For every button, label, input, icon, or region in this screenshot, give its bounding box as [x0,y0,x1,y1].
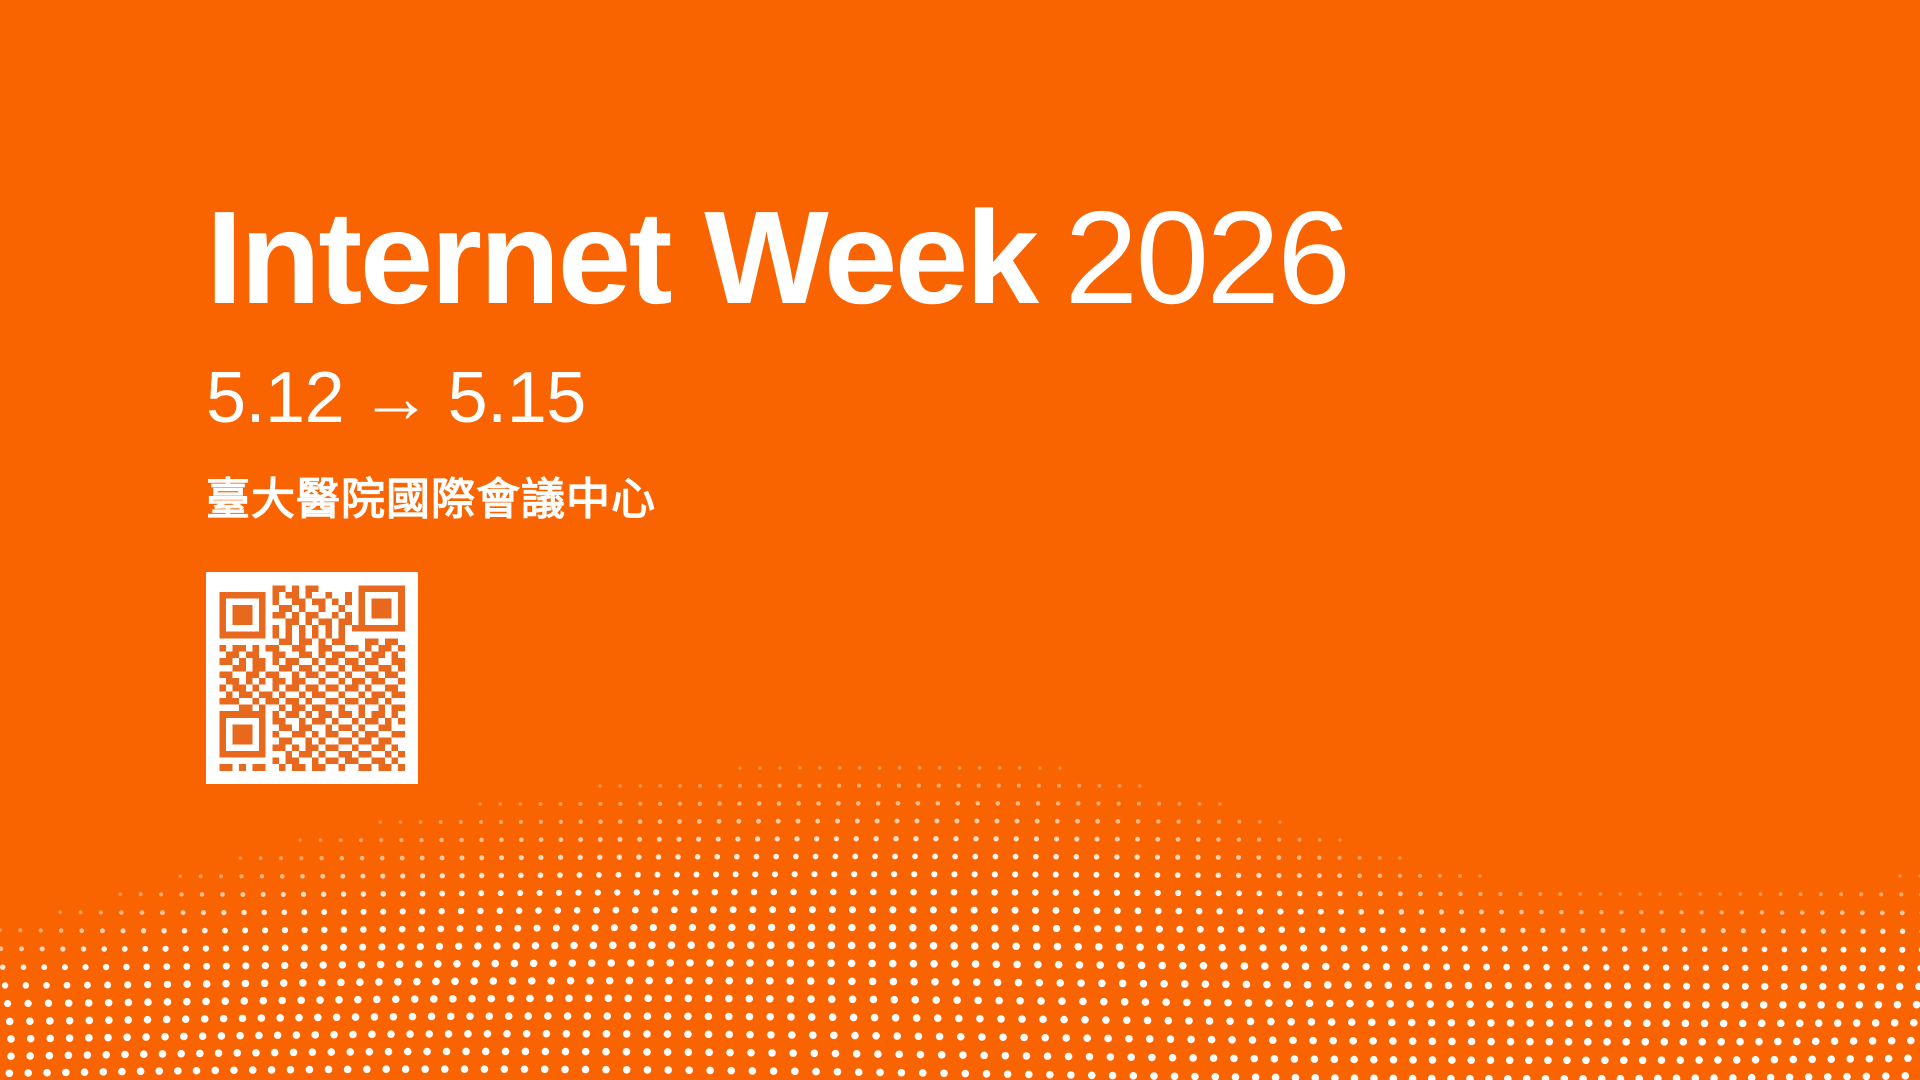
venue-name: 臺大醫院國際會議中心 [206,478,1766,522]
arrow-right-icon: → [344,362,448,434]
headline-year: 2026 [1065,184,1349,331]
poster-content: Internet Week2026 5.12→5.15 臺大醫院國際會議中心 [206,188,1766,784]
qr-code[interactable] [206,572,418,784]
qr-code-matrix [206,572,418,784]
date-end: 5.15 [448,358,586,438]
event-dateline: 5.12→5.15 [206,362,1766,434]
page-title: Internet Week2026 [206,188,1766,328]
date-start: 5.12 [206,358,344,438]
headline-bold-part: Internet Week [206,184,1037,331]
poster-canvas: Internet Week2026 5.12→5.15 臺大醫院國際會議中心 [0,0,1920,1080]
